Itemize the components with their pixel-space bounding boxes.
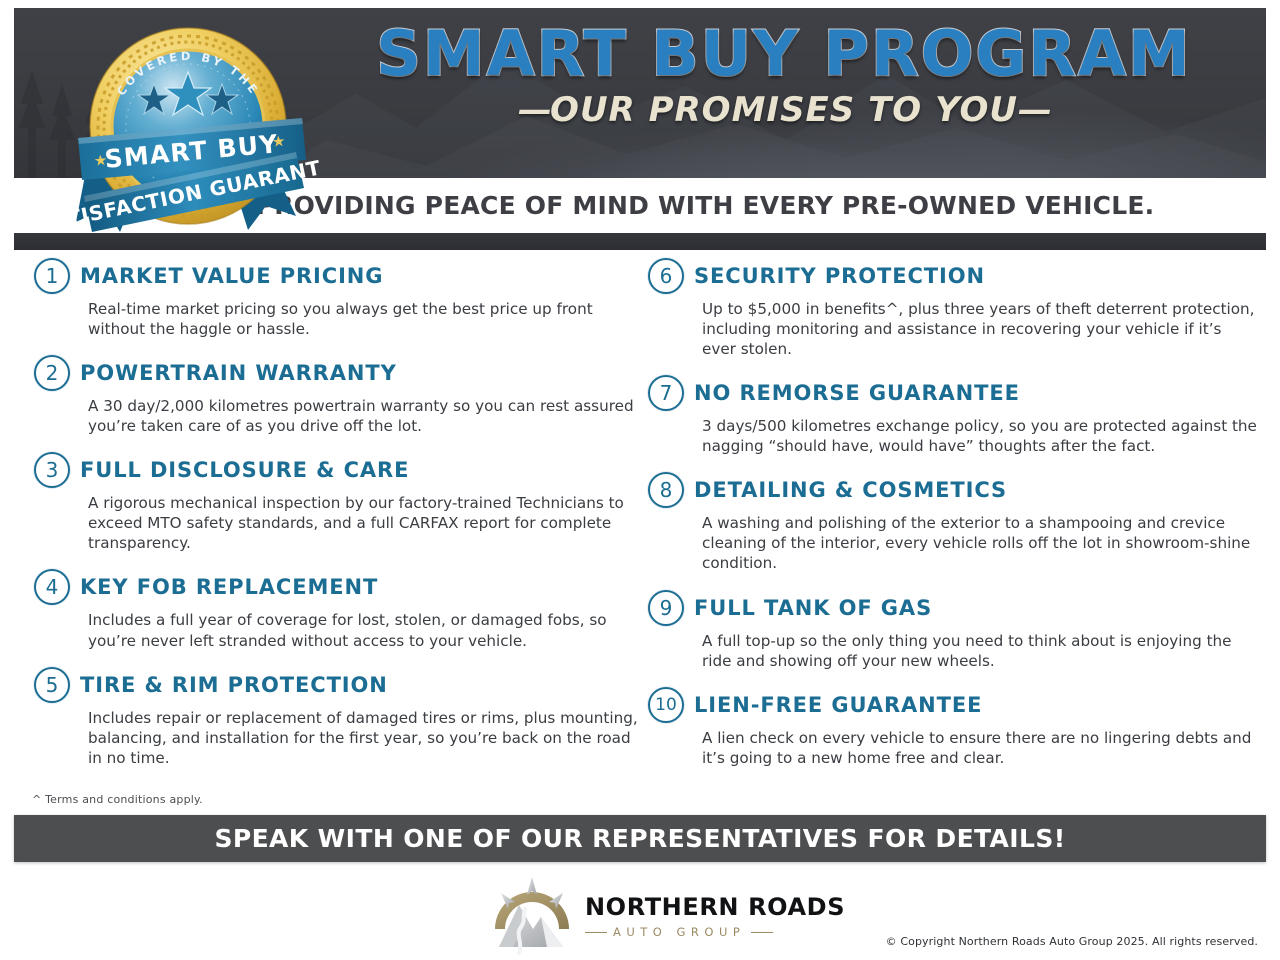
brand-logo-text: NORTHERN ROADS AUTO GROUP — [585, 891, 845, 939]
promise-number-badge: 8 — [648, 472, 684, 508]
promise-item: 4 KEY FOB REPLACEMENT Includes a full ye… — [34, 567, 644, 650]
promise-number-badge: 9 — [648, 590, 684, 626]
promise-item: 3 FULL DISCLOSURE & CARE A rigorous mech… — [34, 450, 644, 553]
smart-buy-satisfaction-guarantee-seal: COVERED BY THE SMART BUY ★ ★ SATISFACTIO… — [60, 10, 320, 250]
promise-item: 2 POWERTRAIN WARRANTY A 30 day/2,000 kil… — [34, 353, 644, 436]
promises-column-left: 1 MARKET VALUE PRICING Real-time market … — [34, 256, 644, 782]
promise-number-badge: 1 — [34, 258, 70, 294]
promise-body: Includes a full year of coverage for los… — [88, 610, 644, 650]
terms-footnote: ^ Terms and conditions apply. — [32, 793, 203, 806]
promise-number-badge: 6 — [648, 258, 684, 294]
promise-item: 1 MARKET VALUE PRICING Real-time market … — [34, 256, 644, 339]
promise-header: 2 POWERTRAIN WARRANTY — [34, 353, 644, 393]
promise-body: 3 days/500 kilometres exchange policy, s… — [702, 416, 1258, 456]
promise-header: 5 TIRE & RIM PROTECTION — [34, 665, 644, 705]
copyright-text: © Copyright Northern Roads Auto Group 20… — [886, 935, 1258, 948]
promise-body: A lien check on every vehicle to ensure … — [702, 728, 1258, 768]
tagline-rule-left — [585, 932, 607, 933]
promise-item: 6 SECURITY PROTECTION Up to $5,000 in be… — [648, 256, 1258, 359]
promise-header: 1 MARKET VALUE PRICING — [34, 256, 644, 296]
footer: NORTHERN ROADS AUTO GROUP © Copyright No… — [0, 870, 1280, 960]
promise-body: Includes repair or replacement of damage… — [88, 708, 644, 768]
promise-number-badge: 7 — [648, 375, 684, 411]
smart-buy-program-flyer: SMART BUY PROGRAM —OUR PROMISES TO YOU— … — [0, 0, 1280, 960]
tagline-rule-right — [751, 932, 773, 933]
promise-item: 8 DETAILING & COSMETICS A washing and po… — [648, 470, 1258, 573]
subtitle-dash-right: — — [1018, 90, 1050, 130]
promise-item: 7 NO REMORSE GUARANTEE 3 days/500 kilome… — [648, 373, 1258, 456]
promise-header: 8 DETAILING & COSMETICS — [648, 470, 1258, 510]
promise-body: A rigorous mechanical inspection by our … — [88, 493, 644, 553]
promise-body: A washing and polishing of the exterior … — [702, 513, 1258, 573]
promise-header: 7 NO REMORSE GUARANTEE — [648, 373, 1258, 413]
brand-tagline: AUTO GROUP — [613, 925, 745, 939]
promise-title: TIRE & RIM PROTECTION — [80, 673, 388, 697]
promise-header: 3 FULL DISCLOSURE & CARE — [34, 450, 644, 490]
promise-header: 6 SECURITY PROTECTION — [648, 256, 1258, 296]
promise-title: MARKET VALUE PRICING — [80, 264, 383, 288]
northern-roads-mountain-compass-logo-icon — [489, 875, 575, 955]
promise-number-badge: 10 — [648, 687, 684, 723]
promise-title: NO REMORSE GUARANTEE — [694, 381, 1020, 405]
promise-title: FULL DISCLOSURE & CARE — [80, 458, 409, 482]
cta-text: SPEAK WITH ONE OF OUR REPRESENTATIVES FO… — [214, 824, 1065, 853]
promise-body: Up to $5,000 in benefits^, plus three ye… — [702, 299, 1258, 359]
promise-title: DETAILING & COSMETICS — [694, 478, 1007, 502]
promise-header: 4 KEY FOB REPLACEMENT — [34, 567, 644, 607]
promise-header: 9 FULL TANK OF GAS — [648, 588, 1258, 628]
subtitle-dash-left: — — [518, 90, 550, 130]
seal-ribbon-star-left-icon: ★ — [93, 151, 108, 170]
brand-logo-lockup: NORTHERN ROADS AUTO GROUP — [489, 875, 845, 955]
promise-title: FULL TANK OF GAS — [694, 596, 932, 620]
promise-item: 10 LIEN-FREE GUARANTEE A lien check on e… — [648, 685, 1258, 768]
hero-title-block: SMART BUY PROGRAM —OUR PROMISES TO YOU— — [314, 22, 1254, 130]
program-subtitle: —OUR PROMISES TO YOU— — [314, 90, 1254, 130]
promise-title: KEY FOB REPLACEMENT — [80, 575, 378, 599]
promise-number-badge: 3 — [34, 452, 70, 488]
promise-body: A 30 day/2,000 kilometres powertrain war… — [88, 396, 644, 436]
promise-header: 10 LIEN-FREE GUARANTEE — [648, 685, 1258, 725]
subtitle-text: OUR PROMISES TO YOU — [550, 90, 1018, 130]
program-title: SMART BUY PROGRAM — [314, 22, 1254, 86]
cta-banner[interactable]: SPEAK WITH ONE OF OUR REPRESENTATIVES FO… — [14, 815, 1266, 862]
brand-name: NORTHERN ROADS — [585, 895, 845, 919]
promise-title: SECURITY PROTECTION — [694, 264, 985, 288]
promise-number-badge: 4 — [34, 569, 70, 605]
promises-column-right: 6 SECURITY PROTECTION Up to $5,000 in be… — [648, 256, 1258, 782]
promise-body: A full top-up so the only thing you need… — [702, 631, 1258, 671]
promise-body: Real-time market pricing so you always g… — [88, 299, 644, 339]
promise-number-badge: 2 — [34, 355, 70, 391]
promise-title: LIEN-FREE GUARANTEE — [694, 693, 982, 717]
promise-item: 9 FULL TANK OF GAS A full top-up so the … — [648, 588, 1258, 671]
promise-item: 5 TIRE & RIM PROTECTION Includes repair … — [34, 665, 644, 768]
promise-number-badge: 5 — [34, 667, 70, 703]
seal-ribbon-star-right-icon: ★ — [271, 132, 286, 151]
promise-title: POWERTRAIN WARRANTY — [80, 361, 397, 385]
promises-grid: 1 MARKET VALUE PRICING Real-time market … — [0, 256, 1280, 796]
brand-tagline-row: AUTO GROUP — [585, 925, 845, 939]
